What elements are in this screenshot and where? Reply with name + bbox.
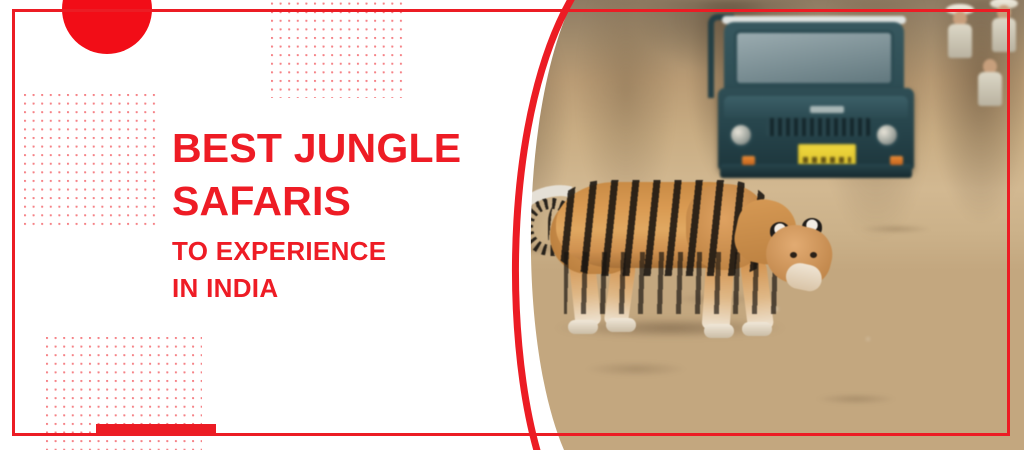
- red-dot-grid-left: [24, 94, 158, 230]
- tiger-paw: [704, 324, 734, 338]
- jeep-headlight-right: [874, 122, 900, 148]
- tiger-eye: [810, 252, 817, 258]
- headline-line-2: SAFARIS: [172, 181, 492, 222]
- red-dot-grid-top-right: [271, 0, 407, 98]
- tourist-torso: [948, 24, 972, 58]
- jeep-headlight-left: [728, 122, 754, 148]
- tiger-paw: [742, 322, 772, 336]
- red-circle-decoration: [62, 0, 152, 54]
- jeep-indicator-right: [890, 156, 903, 165]
- jungle-safari-banner: BEST JUNGLE SAFARIS TO EXPERIENCE IN IND…: [0, 0, 1024, 450]
- red-bottom-accent-bar: [96, 424, 216, 435]
- tourist-torso: [992, 18, 1016, 52]
- jeep-windshield: [734, 30, 894, 86]
- bengal-tiger: [498, 160, 858, 360]
- headline-line-3: TO EXPERIENCE: [172, 238, 492, 264]
- safari-photo: [476, 0, 1024, 450]
- tiger-paw: [606, 318, 636, 332]
- jeep-badge: [810, 106, 844, 113]
- headline-line-1: BEST JUNGLE: [172, 128, 492, 169]
- tiger-eye: [790, 252, 797, 258]
- tiger-paw: [568, 320, 598, 334]
- headline-line-4: IN INDIA: [172, 275, 492, 301]
- jeep-grille: [766, 118, 870, 136]
- tourist-torso: [978, 72, 1002, 106]
- headline-block: BEST JUNGLE SAFARIS TO EXPERIENCE IN IND…: [172, 128, 492, 312]
